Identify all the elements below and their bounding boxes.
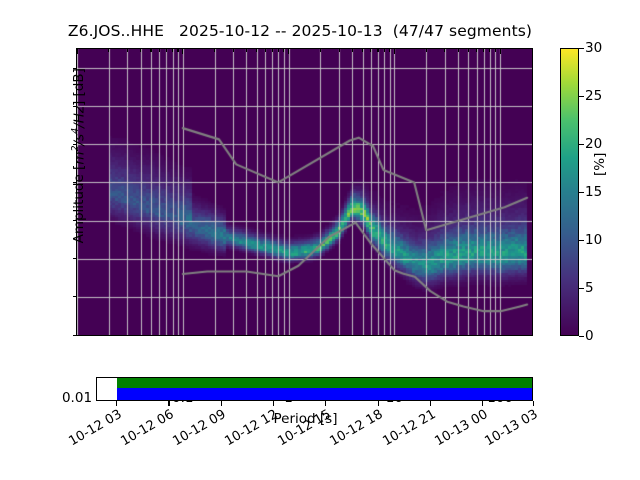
x-axis-minor-tick-mark [389,49,390,52]
x-axis-minor-tick-mark [458,49,459,52]
x-axis-minor-tick-mark [384,49,385,52]
timeline-tick-mark [273,401,274,406]
x-axis-minor-tick-mark [177,49,178,52]
y-axis-label-hz: /Hz [71,106,87,128]
x-axis-minor-tick-mark [283,49,284,52]
x-axis-tick-mark [500,49,501,54]
timeline-tick-mark [168,401,169,406]
x-axis-minor-tick-mark [127,49,128,52]
x-axis-minor-tick-mark [352,49,353,52]
x-axis-minor-tick-mark [444,49,445,52]
y-axis-label-m: m [71,152,87,165]
x-axis-tick-mark [182,49,183,54]
y-axis-label-post: ] [dB] [71,68,87,106]
colorbar-tick-mark [579,336,584,337]
x-axis-minor-tick-mark [339,49,340,52]
x-axis-minor-tick-mark [172,49,173,52]
colorbar[interactable] [560,48,579,336]
page-title: Z6.JOS..HHE 2025-10-12 -- 2025-10-13 (47… [0,22,600,40]
x-axis-minor-tick-mark [256,49,257,52]
timeline-tick-mark [325,401,326,406]
colorbar-tick-mark [579,144,584,145]
timeline-coverage-axes[interactable] [96,377,533,401]
colorbar-tick-mark [579,288,584,289]
x-axis-tick-label: 0.01 [62,390,92,406]
colorbar-tick-mark [579,96,584,97]
timeline-tick-mark [378,401,379,406]
x-axis-minor-tick-mark [362,49,363,52]
ppsd-plot-area[interactable]: -60-80-100-120-140-160-180-200 0.010.111… [76,48,533,336]
x-axis-minor-tick-mark [233,49,234,52]
x-axis-minor-tick-mark [278,49,279,52]
y-axis-label-pre: Amplitude [ [71,165,87,244]
x-axis-minor-tick-mark [377,49,378,52]
x-axis-minor-tick-mark [246,49,247,52]
x-axis-minor-tick-mark [214,49,215,52]
y-axis-label-sup1: 2 [69,145,80,151]
ppsd-plot-inner [77,49,532,335]
timeline-available-bar [117,378,532,388]
x-axis-minor-tick-mark [159,49,160,52]
y-axis-label-s: /s [71,134,87,146]
timeline-inner [97,378,532,400]
x-axis-minor-tick-mark [265,49,266,52]
x-axis-minor-tick-mark [489,49,490,52]
ppsd-density-heatmap [77,49,532,335]
colorbar-label: [%] [592,136,608,176]
x-axis-minor-tick-mark [272,49,273,52]
timeline-tick-mark [533,401,534,406]
colorbar-tick-mark [579,192,584,193]
colorbar-tick-mark [579,240,584,241]
x-axis-minor-tick-mark [108,49,109,52]
x-axis-minor-tick-mark [495,49,496,52]
x-axis-minor-tick-mark [476,49,477,52]
x-axis-minor-tick-mark [483,49,484,52]
x-axis-minor-tick-mark [140,49,141,52]
timeline-tick-mark [116,401,117,406]
colorbar-tick-label: 0 [585,328,594,344]
x-axis-minor-tick-mark [468,49,469,52]
timeline-tick-mark [430,401,431,406]
timeline-tick-mark [482,401,483,406]
x-axis-minor-tick-mark [150,49,151,52]
x-axis-tick-mark [394,49,395,54]
x-axis-minor-tick-mark [370,49,371,52]
x-axis-minor-tick-mark [426,49,427,52]
colorbar-tick-label: 10 [585,232,602,248]
x-axis-minor-tick-mark [532,49,533,52]
colorbar-tick-label: 30 [585,40,602,56]
y-axis-label: Amplitude [m2/s4/Hz] [dB] [69,0,87,366]
timeline-tick-mark [221,401,222,406]
colorbar-tick-label: 5 [585,280,594,296]
colorbar-tick-label: 15 [585,184,602,200]
ppsd-figure: Z6.JOS..HHE 2025-10-12 -- 2025-10-13 (47… [0,0,640,480]
x-axis-tick-mark [288,49,289,54]
timeline-used-bar [117,388,532,400]
x-axis-minor-tick-mark [320,49,321,52]
x-axis-minor-tick-mark [166,49,167,52]
y-axis-label-sup2: 4 [69,128,80,134]
colorbar-tick-label: 25 [585,88,602,104]
colorbar-tick-mark [579,48,584,49]
